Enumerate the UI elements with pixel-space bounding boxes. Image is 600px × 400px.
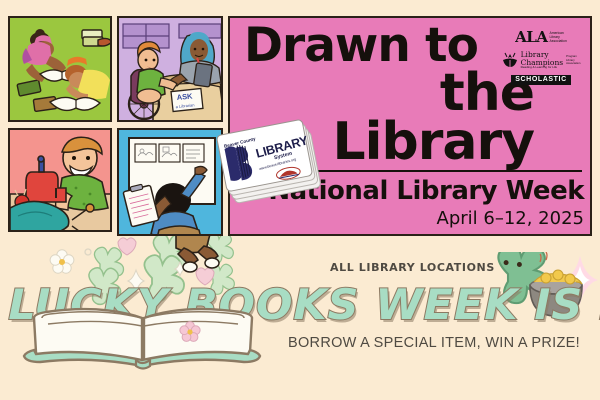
library-champions-name: Library Champions Reading & Learning for… (521, 51, 564, 70)
illustration-band: ASK a Librarian (0, 0, 600, 240)
flower-icon (50, 250, 74, 273)
library-champions-logo: Library Champions Reading & Learning for… (502, 51, 580, 70)
ala-logo: ALA American Library Association (502, 28, 580, 46)
panel-kids-reading (8, 16, 112, 122)
champions-side-text: Program Library Association (566, 55, 580, 65)
panel-librarian-help-desk: ASK a Librarian (117, 16, 223, 122)
open-book-person-icon (502, 52, 518, 68)
sponsor-logos: ALA American Library Association (502, 28, 580, 85)
ask-sign-label: ASK (176, 91, 193, 102)
headline-line-1: Drawn to (244, 24, 536, 69)
ala-mark-text: ALA (515, 28, 547, 46)
library-promo-poster: ASK a Librarian (0, 0, 600, 400)
scholastic-logo: SCHOLASTIC (511, 75, 571, 85)
promo-tagline: BORROW A SPECIAL ITEM, WIN A PRIZE! (288, 335, 580, 351)
panel-child-drawing (117, 128, 223, 236)
lucky-books-promo: LUCKY BOOKS WEEK IS BACK ALL LIBRARY LOC… (0, 236, 600, 400)
headline-divider (286, 170, 582, 172)
ala-full-name: American Library Association (549, 31, 566, 44)
panel-sewing-machine (8, 128, 112, 232)
event-dates: April 6–12, 2025 (230, 208, 584, 229)
locations-label: ALL LIBRARY LOCATIONS (330, 261, 495, 274)
open-book-icon (18, 304, 268, 370)
